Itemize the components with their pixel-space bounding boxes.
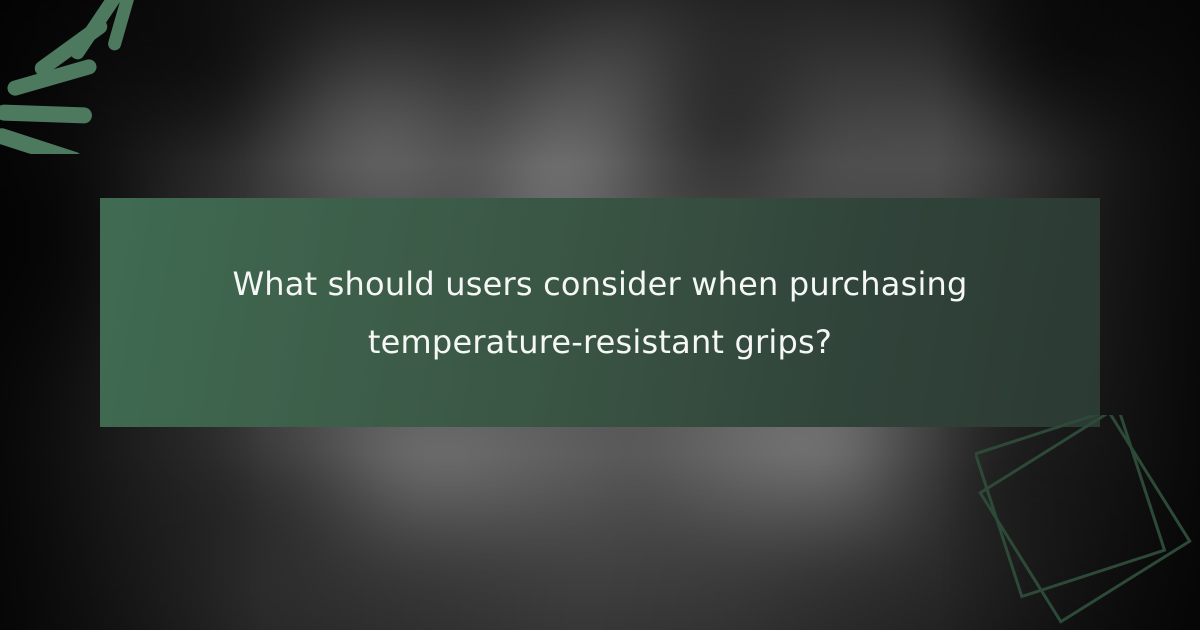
starburst-icon bbox=[0, 0, 180, 154]
rotated-square bbox=[980, 415, 1189, 622]
starburst-ray bbox=[0, 126, 84, 154]
starburst-ray bbox=[0, 104, 92, 123]
headline-banner: What should users consider when purchasi… bbox=[100, 198, 1100, 427]
poster-canvas: What should users consider when purchasi… bbox=[0, 0, 1200, 630]
rotated-squares-icon bbox=[975, 415, 1200, 630]
rotated-square bbox=[975, 415, 1164, 597]
headline-text: What should users consider when purchasi… bbox=[170, 255, 1030, 371]
